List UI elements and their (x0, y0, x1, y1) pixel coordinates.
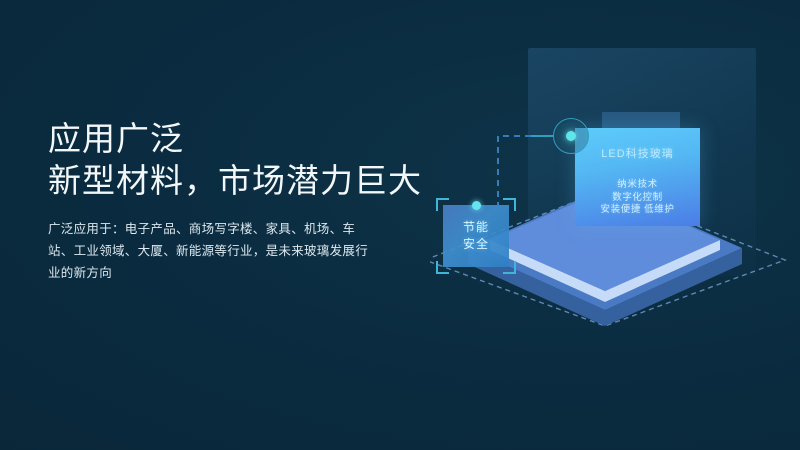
led-glass-screen: LED科技玻璃 纳米技术 数字化控制 安装便捷 低维护 (575, 128, 700, 226)
screen-features: 纳米技术 数字化控制 安装便捷 低维护 (575, 179, 700, 217)
feature-badge[interactable]: 节能 安全 (443, 205, 509, 267)
screen-title: LED科技玻璃 (575, 145, 700, 161)
badge-corner-top-right-icon (503, 198, 516, 211)
badge-corner-top-left-icon (436, 198, 449, 211)
screen-feature-3: 安装便捷 低维护 (575, 204, 700, 217)
screen-feature-2: 数字化控制 (575, 192, 700, 205)
screen-feature-1: 纳米技术 (575, 179, 700, 192)
node-stub-line (531, 135, 553, 137)
text-block: 应用广泛 新型材料，市场潜力巨大 广泛应用于：电子产品、商场写字楼、家具、机场、… (48, 118, 448, 284)
badge-corner-bottom-left-icon (436, 261, 449, 274)
illustration: LED科技玻璃 纳米技术 数字化控制 安装便捷 低维护 节能 安全 (420, 0, 800, 450)
badge-text: 节能 安全 (443, 205, 509, 267)
badge-corner-bottom-right-icon (503, 261, 516, 274)
page-title-line-2: 新型材料，市场潜力巨大 (48, 160, 448, 202)
badge-line-1: 节能 (463, 219, 489, 236)
slide-canvas: 应用广泛 新型材料，市场潜力巨大 广泛应用于：电子产品、商场写字楼、家具、机场、… (0, 0, 800, 450)
node-dot-icon (566, 131, 576, 141)
connector-node[interactable] (553, 118, 589, 154)
badge-line-2: 安全 (463, 236, 489, 253)
badge-dot-icon (472, 201, 481, 210)
body-paragraph: 广泛应用于：电子产品、商场写字楼、家具、机场、车站、工业领域、大厦、新能源等行业… (48, 218, 378, 284)
page-title-line-1: 应用广泛 (48, 118, 448, 160)
